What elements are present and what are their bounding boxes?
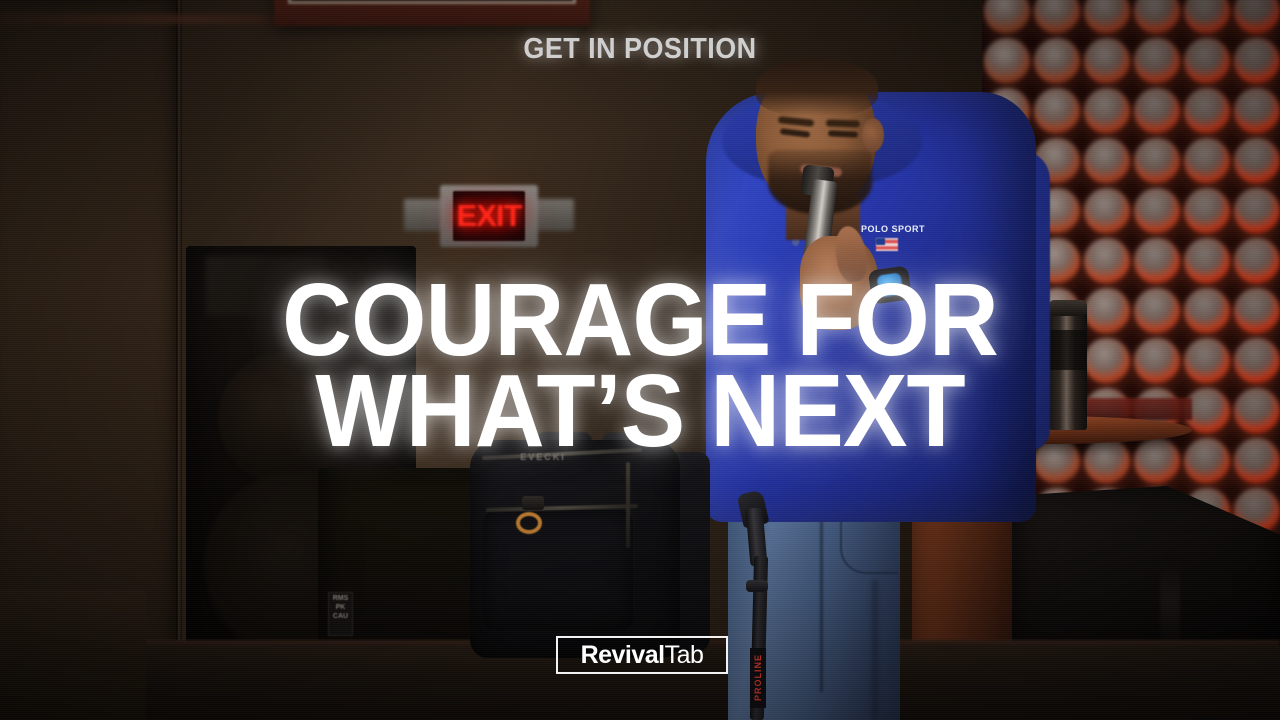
backpack-front-pocket	[483, 510, 633, 630]
hair	[756, 58, 878, 116]
stage-light-bulb	[1034, 88, 1080, 134]
exit-sign-label: EXIT	[453, 196, 525, 236]
stage-light-bulb	[1184, 88, 1230, 134]
stage-light-bulb	[1134, 138, 1180, 184]
eyebrow-right	[826, 119, 860, 127]
hoodie-flag-canton	[876, 238, 885, 245]
jeans-fold-right	[872, 580, 878, 720]
stage-light-bulb	[1134, 88, 1180, 134]
foreground-wall-left	[0, 590, 146, 720]
stage-light-bulb	[1234, 188, 1280, 234]
slide-canvas: EXIT RMS PK CAU POLO SPORT	[0, 0, 1280, 720]
stage-light-bulb	[1184, 188, 1230, 234]
logo-word-revival: Revival	[581, 641, 665, 669]
logo-word-tab: Tab	[665, 641, 704, 669]
mic-stand-brand-label: PROLINE	[753, 654, 763, 701]
revivaltab-logo: RevivalTab	[556, 636, 728, 674]
mic-stand-collar	[746, 580, 768, 592]
sermon-title: COURAGE FOR WHAT’S NEXT	[38, 275, 1241, 456]
sermon-title-line-2: WHAT’S NEXT	[38, 366, 1241, 457]
jeans-seam	[820, 492, 823, 692]
stage-light-bulb	[1184, 138, 1230, 184]
stage-light-bulb	[1134, 0, 1180, 34]
stage-light-bulb	[1084, 138, 1130, 184]
stage-light-bulb	[1234, 88, 1280, 134]
stage-light-bulb	[984, 0, 1030, 34]
exit-sign-bracket-right	[534, 199, 574, 231]
revivaltab-logo-text: RevivalTab	[581, 643, 704, 668]
backpack-buckle	[522, 496, 544, 510]
stage-light-bulb	[1234, 0, 1280, 34]
backpack-zipper-side	[626, 462, 630, 548]
speaker-badge-label: RMS PK CAU	[328, 594, 353, 634]
stage-light-bulb	[1134, 188, 1180, 234]
stage-light-bulb	[1234, 38, 1280, 84]
ear	[862, 118, 884, 152]
backpack-d-ring	[516, 512, 542, 534]
stage-light-bulb	[1084, 0, 1130, 34]
stage-monitor-grill	[1160, 556, 1180, 648]
stage-light-bulb	[1184, 0, 1230, 34]
stage-light-bulb	[1084, 188, 1130, 234]
wall-picture-mat	[288, 0, 576, 4]
series-kicker: GET IN POSITION	[45, 33, 1235, 66]
stage-light-bulb	[1084, 88, 1130, 134]
stage-light-bulb	[1034, 0, 1080, 34]
exit-sign-bracket-left	[404, 199, 444, 231]
stage-light-bulb	[1234, 138, 1280, 184]
mic-stand-brand-plate: PROLINE	[750, 648, 766, 708]
